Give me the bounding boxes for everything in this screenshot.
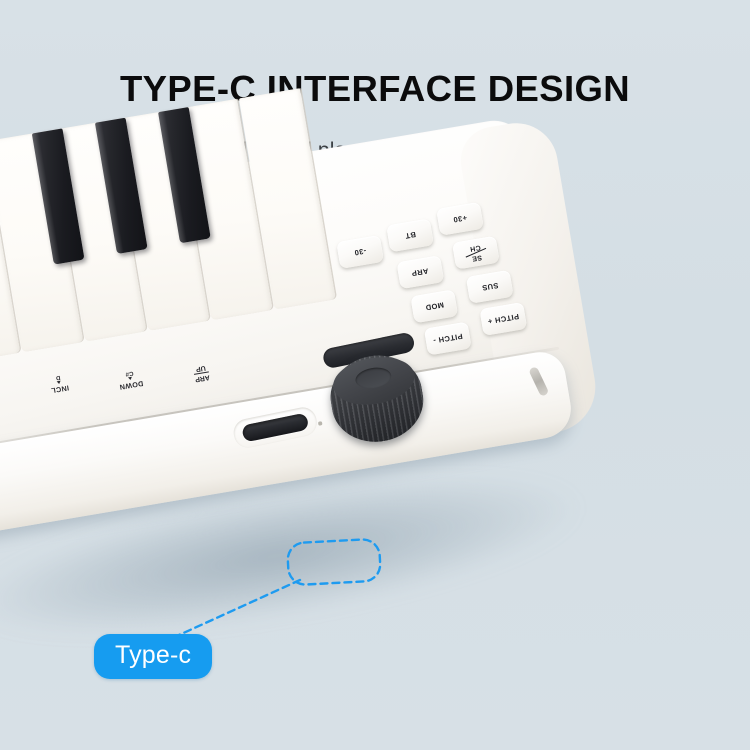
product-photo: ORDER F RAND E EXCL D# INCL D DOWN — [0, 196, 690, 666]
button-label: MOD — [424, 300, 444, 312]
indicator-dot — [318, 421, 322, 425]
button-label: SUS — [481, 281, 499, 293]
rotary-knob[interactable] — [324, 349, 429, 449]
button-label: -30 — [353, 246, 366, 257]
button-minus30[interactable]: -30 — [336, 235, 384, 269]
key-legend-incl: INCL D — [49, 373, 70, 395]
button-label: +30 — [452, 213, 467, 224]
key-legend-down: DOWN C# — [117, 369, 144, 392]
button-sus[interactable]: SUS — [466, 270, 514, 304]
button-bt[interactable]: BT — [386, 218, 434, 252]
button-label: ARP — [411, 266, 429, 278]
button-label: PITCH - — [432, 332, 463, 346]
button-label: PITCH + — [487, 312, 520, 326]
type-c-badge: Type-c — [94, 634, 212, 679]
button-mod[interactable]: MOD — [410, 289, 458, 323]
button-label: BT — [404, 230, 416, 241]
page-title: TYPE-C INTERFACE DESIGN — [0, 68, 750, 110]
button-se-ch[interactable]: SE CH — [452, 236, 500, 270]
promo-image-stage: TYPE-C INTERFACE DESIGN Plug and play, v… — [0, 0, 750, 750]
button-plus30[interactable]: +30 — [436, 202, 484, 236]
button-arp[interactable]: ARP — [396, 255, 444, 289]
key-legend-arp-up: ARP UP — [193, 363, 210, 382]
type-c-badge-label: Type-c — [115, 641, 191, 669]
